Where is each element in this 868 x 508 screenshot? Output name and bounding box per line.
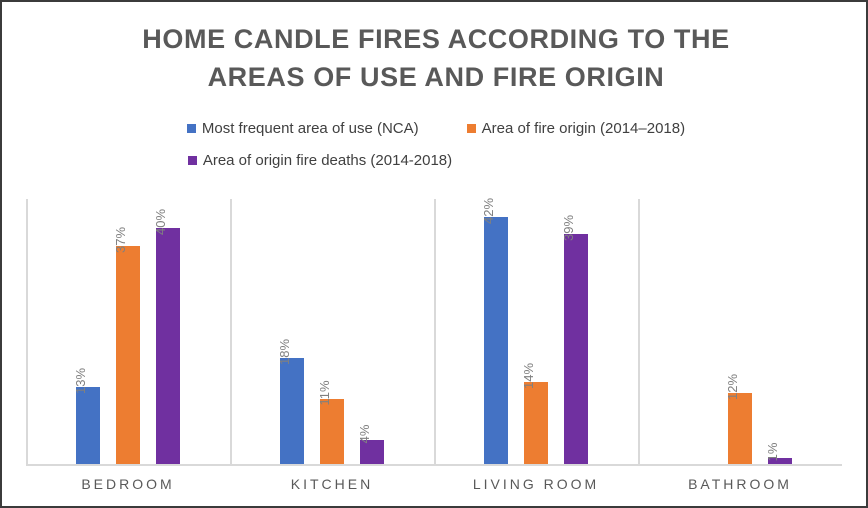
bar-value-label: 37%	[114, 227, 128, 253]
bar-slot: 14%	[524, 199, 548, 464]
legend-swatch-icon-series-3	[188, 156, 197, 165]
bar-value-label: 13%	[74, 368, 88, 394]
category-axis-line	[26, 464, 842, 466]
legend-row-1: Most frequent area of use (NCA) Area of …	[2, 117, 868, 139]
bar[interactable]	[156, 228, 180, 464]
chart-title-line-2: AREAS OF USE AND FIRE ORIGIN	[2, 58, 868, 96]
legend-row-2: Area of origin fire deaths (2014-2018)	[2, 149, 868, 171]
legend-item-most-frequent-area-of-use[interactable]: Most frequent area of use (NCA)	[187, 117, 419, 139]
bar[interactable]	[116, 246, 140, 464]
bar-value-label: 42%	[482, 198, 496, 224]
bar-slot: 39%	[564, 199, 588, 464]
bar-value-label: 4%	[358, 425, 372, 444]
bar-group-bars: 42%14%39%	[434, 199, 638, 464]
category-axis-label: LIVING ROOM	[434, 474, 638, 494]
category-axis-label: BEDROOM	[26, 474, 230, 494]
bar[interactable]	[280, 358, 304, 464]
bar-slot	[688, 199, 712, 464]
plot-area: 13%37%40%18%11%4%42%14%39%12%1%	[26, 199, 842, 465]
chart-container: HOME CANDLE FIRES ACCORDING TO THE AREAS…	[0, 0, 868, 508]
legend-label-series-3: Area of origin fire deaths (2014-2018)	[203, 152, 452, 169]
bar-group: 18%11%4%	[230, 199, 434, 464]
bar-group: 13%37%40%	[26, 199, 230, 464]
legend-label-series-1: Most frequent area of use (NCA)	[202, 120, 419, 137]
bar-slot: 37%	[116, 199, 140, 464]
bar-group: 42%14%39%	[434, 199, 638, 464]
bar-value-label: 11%	[318, 380, 332, 405]
bar-group: 12%1%	[638, 199, 842, 464]
bar-slot: 13%	[76, 199, 100, 464]
bar-group-bars: 18%11%4%	[230, 199, 434, 464]
category-axis-label: BATHROOM	[638, 474, 842, 494]
bar-slot: 11%	[320, 199, 344, 464]
chart-title: HOME CANDLE FIRES ACCORDING TO THE AREAS…	[2, 20, 868, 96]
bar-slot: 1%	[768, 199, 792, 464]
bar-slot: 42%	[484, 199, 508, 464]
bar[interactable]	[484, 217, 508, 464]
bar-slot: 40%	[156, 199, 180, 464]
bar[interactable]	[728, 393, 752, 464]
bar[interactable]	[524, 382, 548, 464]
legend-label-series-2: Area of fire origin (2014–2018)	[482, 120, 685, 137]
category-axis-label: KITCHEN	[230, 474, 434, 494]
legend-item-area-of-fire-origin[interactable]: Area of fire origin (2014–2018)	[467, 117, 685, 139]
bar-slot: 18%	[280, 199, 304, 464]
legend-item-area-of-origin-fire-deaths[interactable]: Area of origin fire deaths (2014-2018)	[188, 149, 452, 171]
legend-swatch-icon-series-2	[467, 124, 476, 133]
bar[interactable]	[564, 234, 588, 464]
legend-swatch-icon-series-1	[187, 124, 196, 133]
chart-legend: Most frequent area of use (NCA) Area of …	[2, 117, 868, 175]
bar-group-bars: 12%1%	[638, 199, 842, 464]
bar-value-label: 12%	[726, 374, 740, 400]
bar-value-label: 39%	[562, 215, 576, 241]
bar-slot: 4%	[360, 199, 384, 464]
chart-title-line-1: HOME CANDLE FIRES ACCORDING TO THE	[2, 20, 868, 58]
bar-value-label: 1%	[766, 443, 780, 462]
bar-slot: 12%	[728, 199, 752, 464]
bar[interactable]	[320, 399, 344, 464]
category-axis-labels: BEDROOMKITCHENLIVING ROOMBATHROOM	[26, 474, 842, 498]
bar-value-label: 18%	[278, 339, 292, 365]
bar[interactable]	[360, 440, 384, 464]
bar-value-label: 40%	[154, 209, 168, 235]
bar[interactable]	[76, 387, 100, 464]
bar-value-label: 14%	[522, 363, 536, 389]
bar-group-bars: 13%37%40%	[26, 199, 230, 464]
